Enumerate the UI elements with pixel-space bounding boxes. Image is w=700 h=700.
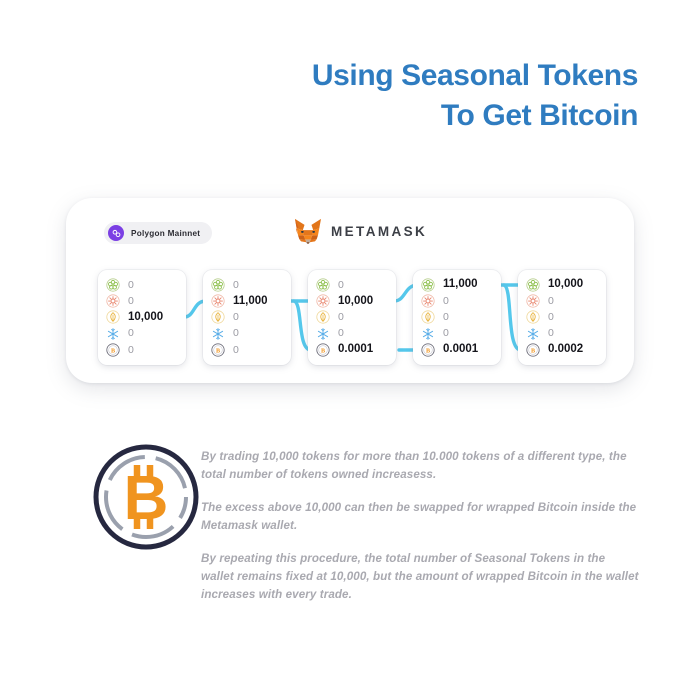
page-title-line-1: Using Seasonal Tokens [312, 56, 638, 96]
token-row-spring: 0 [211, 277, 283, 293]
token-value: 0 [338, 280, 344, 291]
token-row-spring: 11,000 [421, 277, 493, 293]
winter-token-icon [106, 327, 120, 341]
wrapped-bitcoin-logo: B [92, 443, 200, 551]
token-value: 10,000 [128, 312, 163, 324]
token-value: 0 [128, 296, 134, 307]
winter-token-icon [211, 327, 225, 341]
explainer-text-block: By trading 10,000 tokens for more than 1… [201, 448, 641, 603]
token-value: 0 [233, 345, 239, 356]
svg-text:B: B [216, 348, 220, 354]
token-value: 10,000 [338, 296, 373, 308]
token-value: 0 [548, 328, 554, 339]
svg-text:B: B [124, 464, 169, 533]
token-row-winter: 0 [421, 326, 493, 342]
network-selector-badge[interactable]: Polygon Mainnet [104, 222, 212, 244]
token-row-summer: 0 [421, 293, 493, 309]
token-value: 0 [233, 312, 239, 323]
svg-text:B: B [531, 348, 535, 354]
token-value: 0 [548, 296, 554, 307]
token-row-autumn: 10,000 [106, 309, 178, 325]
token-value: 0 [548, 312, 554, 323]
token-value: 0.0001 [443, 344, 478, 356]
token-value: 11,000 [233, 296, 268, 308]
wrapped-bitcoin-token-icon: B [211, 343, 225, 357]
wrapped-bitcoin-token-icon: B [421, 343, 435, 357]
token-balance-card[interactable]: 0 11,000 [203, 270, 291, 365]
token-row-winter: 0 [106, 326, 178, 342]
summer-token-icon [316, 294, 330, 308]
autumn-token-icon [526, 310, 540, 324]
wallet-header: Polygon Mainnet [66, 198, 634, 260]
token-balance-cards-row: 0 0 [66, 270, 634, 372]
winter-token-icon [526, 327, 540, 341]
token-row-spring: 0 [106, 277, 178, 293]
token-row-autumn: 0 [211, 309, 283, 325]
metamask-wallet-panel: Polygon Mainnet [66, 198, 634, 383]
spring-token-icon [421, 278, 435, 292]
token-balance-card[interactable]: 10,000 0 [518, 270, 606, 365]
token-row-autumn: 0 [316, 309, 388, 325]
wrapped-bitcoin-token-icon: B [106, 343, 120, 357]
metamask-fox-icon [294, 218, 322, 244]
page-title: Using Seasonal Tokens To Get Bitcoin [312, 56, 638, 136]
token-value: 0 [443, 328, 449, 339]
winter-token-icon [316, 327, 330, 341]
token-row-summer: 11,000 [211, 293, 283, 309]
token-row-bitcoin: B 0 [106, 342, 178, 358]
token-row-winter: 0 [316, 326, 388, 342]
svg-text:B: B [321, 348, 325, 354]
token-row-spring: 10,000 [526, 277, 598, 293]
winter-token-icon [421, 327, 435, 341]
spring-token-icon [211, 278, 225, 292]
token-value: 0.0001 [338, 344, 373, 356]
autumn-token-icon [316, 310, 330, 324]
token-row-autumn: 0 [526, 309, 598, 325]
token-value: 0 [443, 296, 449, 307]
token-value: 0 [128, 345, 134, 356]
autumn-token-icon [211, 310, 225, 324]
explainer-paragraph-2: The excess above 10,000 can then be swap… [201, 499, 641, 534]
summer-token-icon [106, 294, 120, 308]
token-row-winter: 0 [211, 326, 283, 342]
token-row-summer: 0 [526, 293, 598, 309]
metamask-wordmark: METAMASK [331, 224, 427, 239]
token-value: 0 [233, 328, 239, 339]
wrapped-bitcoin-token-icon: B [526, 343, 540, 357]
token-value: 0 [338, 328, 344, 339]
page-title-line-2: To Get Bitcoin [312, 96, 638, 136]
summer-token-icon [211, 294, 225, 308]
spring-token-icon [106, 278, 120, 292]
token-balance-card[interactable]: 0 10,000 [308, 270, 396, 365]
token-value: 0 [128, 280, 134, 291]
spring-token-icon [526, 278, 540, 292]
network-name-label: Polygon Mainnet [131, 229, 200, 238]
token-row-summer: 0 [106, 293, 178, 309]
explainer-paragraph-3: By repeating this procedure, the total n… [201, 550, 641, 603]
token-value: 0.0002 [548, 344, 583, 356]
token-value: 11,000 [443, 279, 478, 291]
token-row-bitcoin: B 0 [211, 342, 283, 358]
metamask-brand-lockup: METAMASK [294, 218, 427, 244]
token-row-bitcoin: B 0.0002 [526, 342, 598, 358]
token-value: 0 [443, 312, 449, 323]
token-row-summer: 10,000 [316, 293, 388, 309]
svg-text:B: B [426, 348, 430, 354]
token-balance-card[interactable]: 11,000 0 [413, 270, 501, 365]
token-balance-card[interactable]: 0 0 [98, 270, 186, 365]
wrapped-bitcoin-token-icon: B [316, 343, 330, 357]
token-row-bitcoin: B 0.0001 [316, 342, 388, 358]
token-value: 0 [128, 328, 134, 339]
svg-text:B: B [111, 348, 115, 354]
token-row-spring: 0 [316, 277, 388, 293]
autumn-token-icon [421, 310, 435, 324]
polygon-icon [108, 225, 124, 241]
token-row-winter: 0 [526, 326, 598, 342]
explainer-paragraph-1: By trading 10,000 tokens for more than 1… [201, 448, 641, 483]
token-value: 10,000 [548, 279, 583, 291]
summer-token-icon [421, 294, 435, 308]
spring-token-icon [316, 278, 330, 292]
token-value: 0 [338, 312, 344, 323]
autumn-token-icon [106, 310, 120, 324]
token-row-autumn: 0 [421, 309, 493, 325]
token-row-bitcoin: B 0.0001 [421, 342, 493, 358]
summer-token-icon [526, 294, 540, 308]
token-value: 0 [233, 280, 239, 291]
